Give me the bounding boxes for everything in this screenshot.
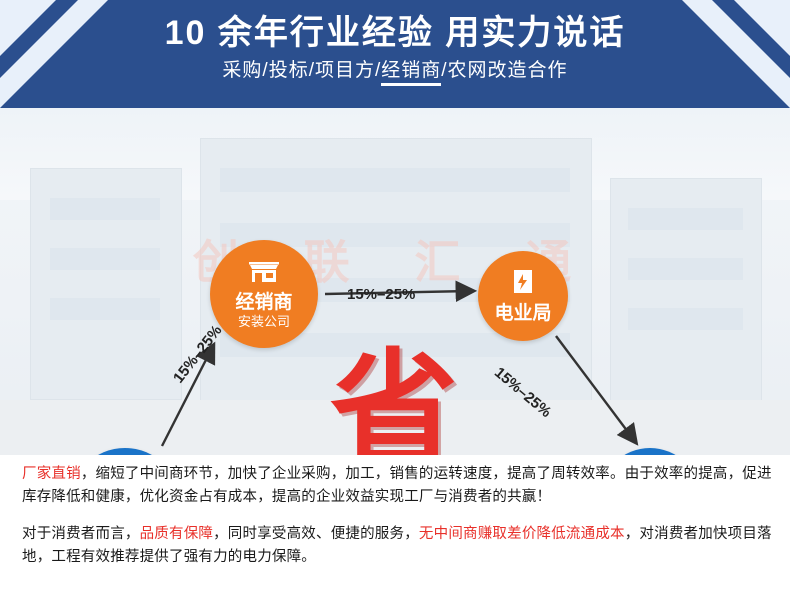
page-root: 10 余年行业经验 用实力说话 采购/投标/项目方/经销商/农网改造合作 创 联…: [0, 0, 790, 600]
header-subtitle-part-1: 采购/投标/项目方/: [222, 60, 381, 81]
shop-icon: [247, 258, 281, 289]
header-banner: 10 余年行业经验 用实力说话 采购/投标/项目方/经销商/农网改造合作: [0, 0, 790, 108]
paragraph-2-segment-2: 品质有保障: [140, 526, 214, 542]
diagram-area: 创 联 汇 通 省: [0, 108, 790, 458]
header-subtitle: 采购/投标/项目方/经销商/农网改造合作: [0, 58, 790, 84]
arrow-label-top: 15%–25%: [347, 286, 415, 303]
paragraph-2-segment-1: 对于消费者而言，: [22, 526, 140, 542]
node-dealer-title: 经销商: [235, 292, 292, 314]
node-dealer-subtitle: 安装公司: [238, 314, 290, 330]
power-building-icon: [510, 267, 536, 300]
node-dealer[interactable]: 经销商 安装公司: [210, 240, 318, 348]
header-title: 10 余年行业经验 用实力说话: [0, 12, 790, 54]
arrow-power-to-consumer: [556, 336, 634, 440]
paragraph-2-segment-4: 无中间商赚取差价降低流通成本: [419, 526, 625, 542]
paragraph-1-segment-2: ，缩短了中间商环节，加快了企业采购，加工，销售的运转速度，提高了周转效率。由于效…: [22, 466, 772, 505]
paragraph-2-segment-3: ，同时享受高效、便捷的服务，: [213, 526, 419, 542]
paragraph-1: 厂家直销，缩短了中间商环节，加快了企业采购，加工，销售的运转速度，提高了周转效率…: [22, 463, 772, 509]
description-block: 厂家直销，缩短了中间商环节，加快了企业采购，加工，销售的运转速度，提高了周转效率…: [0, 455, 790, 600]
node-power-title: 电业局: [494, 303, 551, 325]
node-power-bureau[interactable]: 电业局: [478, 251, 568, 341]
header-subtitle-part-2-highlight: 经销商: [381, 60, 441, 86]
center-save-character: 省: [330, 348, 458, 458]
paragraph-2: 对于消费者而言，品质有保障，同时享受高效、便捷的服务，无中间商赚取差价降低流通成…: [22, 523, 772, 569]
header-subtitle-part-3: /农网改造合作: [441, 60, 567, 81]
paragraph-1-segment-1: 厂家直销: [22, 466, 81, 482]
